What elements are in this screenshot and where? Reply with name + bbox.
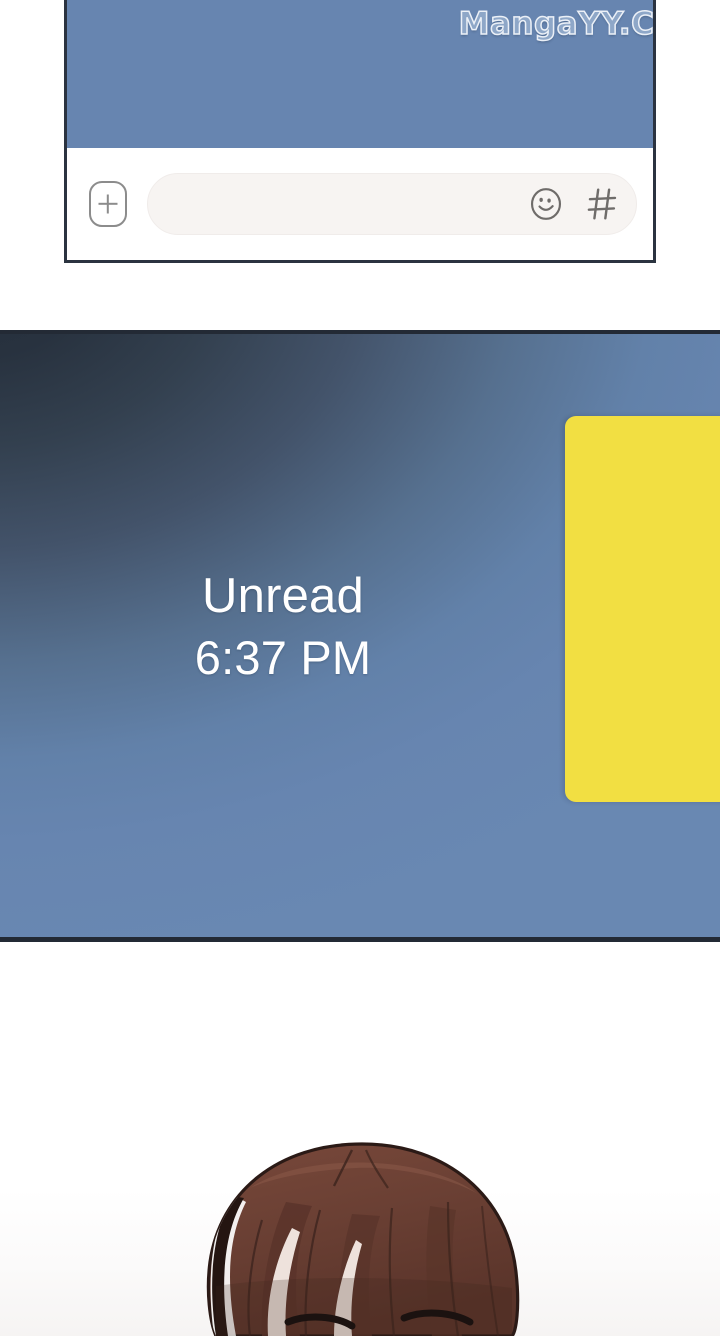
webtoon-page: MangaYY.Com [0,0,720,1336]
smiley-face-icon[interactable] [528,186,564,222]
character-artwork-panel [0,947,720,1336]
add-attachment-button[interactable] [89,181,127,227]
character-hair-illustration [0,1136,720,1336]
unread-status-label: Unread [0,570,566,623]
hashtag-icon[interactable] [586,186,620,222]
message-text-input[interactable] [170,174,526,234]
chat-window-panel: MangaYY.Com [64,0,656,263]
yellow-card [565,416,720,802]
chat-message-area [67,0,653,148]
message-timestamp: 6:37 PM [0,633,566,684]
message-input-field[interactable] [147,173,637,235]
chat-input-bar [67,148,653,260]
blue-gradient-screen-panel: Unread 6:37 PM [0,330,720,942]
unread-message-caption: Unread 6:37 PM [0,570,566,684]
